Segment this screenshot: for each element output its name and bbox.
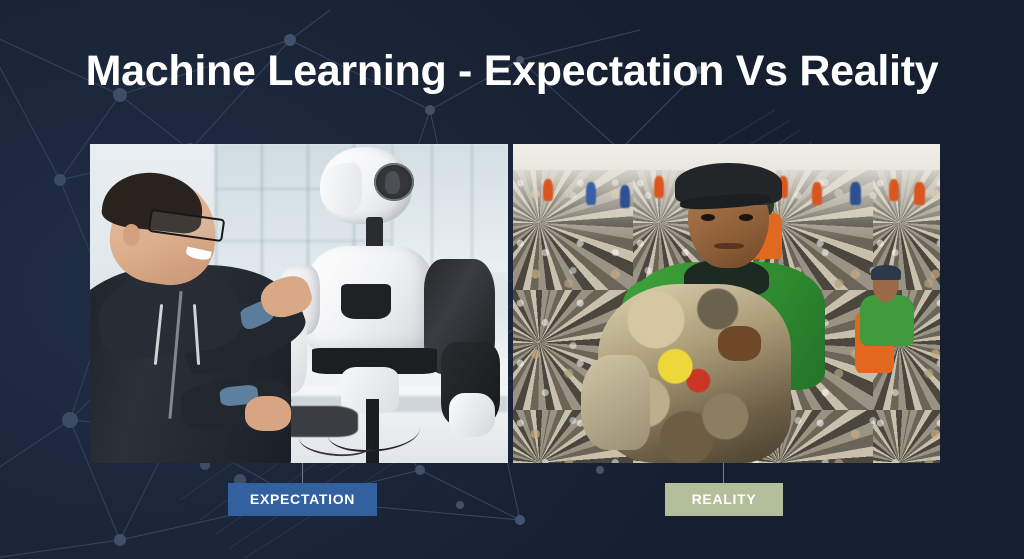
expectation-connector-line [302,463,303,484]
slide-canvas: Machine Learning - Expectation Vs Realit… [0,0,1024,559]
landfill-image [513,144,940,463]
reality-label: REALITY [665,483,783,516]
robot-lab-image [90,144,508,463]
reality-photo [513,144,940,463]
expectation-label: EXPECTATION [228,483,377,516]
reality-connector-line [723,463,724,484]
page-title: Machine Learning - Expectation Vs Realit… [0,46,1024,96]
expectation-photo [90,144,508,463]
